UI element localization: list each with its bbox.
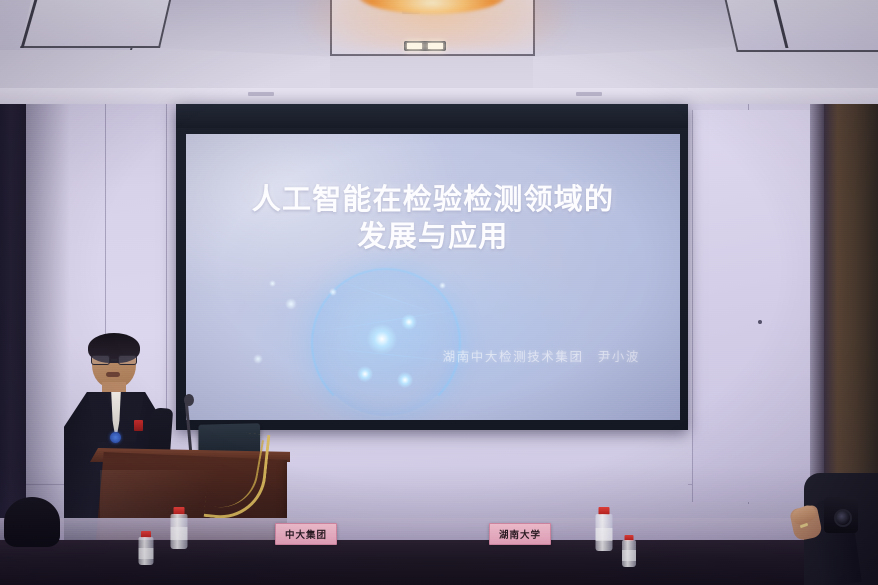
speaker-lapel-pin (110, 432, 121, 443)
globe-node (397, 372, 413, 388)
glasses-icon (90, 355, 138, 365)
audience-head-left (4, 497, 60, 547)
nameplate: 中大集团 (275, 523, 337, 545)
slide-title: 人工智能在检验检测领域的 发展与应用 (186, 182, 680, 256)
bottle-label (622, 550, 636, 561)
camera-lens-icon (834, 509, 852, 527)
speaker-badge (134, 420, 143, 431)
ceiling-coffer-left-inner (20, 0, 172, 48)
globe-dot (329, 288, 337, 296)
wall-sensor-dot (758, 320, 762, 324)
ceiling (0, 0, 878, 104)
globe-dot (285, 298, 297, 310)
water-bottle (168, 507, 190, 549)
conference-room-photo: 人工智能在检验检测领域的 发展与应用 湖南中大检测技术集团 尹小波 中大集团 湖… (0, 0, 878, 585)
globe-dot (269, 280, 276, 287)
water-bottle (136, 531, 156, 565)
slide-subtitle: 湖南中大检测技术集团 尹小波 (443, 346, 640, 365)
photographer (768, 473, 878, 585)
bottle-label (139, 548, 154, 559)
projection-screen-valance (176, 104, 688, 128)
water-bottle (619, 535, 638, 567)
table-skirt (0, 518, 878, 540)
nameplate: 湖南大学 (489, 523, 551, 545)
ceiling-coffer-right (723, 0, 878, 52)
front-table (0, 540, 878, 585)
globe-node (357, 366, 373, 382)
ceiling-slot (576, 92, 602, 96)
ceiling-slot (248, 92, 274, 96)
wall-niche-right (692, 110, 810, 502)
slide-title-line-2: 发展与应用 (186, 219, 680, 256)
globe-dot (439, 282, 446, 289)
network-globe-graphic (291, 262, 481, 412)
globe-dot (253, 354, 263, 364)
slide-title-line-1: 人工智能在检验检测领域的 (186, 182, 680, 219)
speaker-mouth (106, 372, 120, 377)
ceiling-downlight (404, 41, 446, 51)
water-bottle (593, 507, 615, 551)
microphone-head (184, 394, 194, 406)
projection-screen-surface: 人工智能在检验检测领域的 发展与应用 湖南中大检测技术集团 尹小波 (186, 134, 680, 420)
globe-node (367, 324, 397, 354)
bottle-label (596, 528, 613, 541)
globe-node (401, 314, 417, 330)
bottle-label (171, 527, 188, 540)
